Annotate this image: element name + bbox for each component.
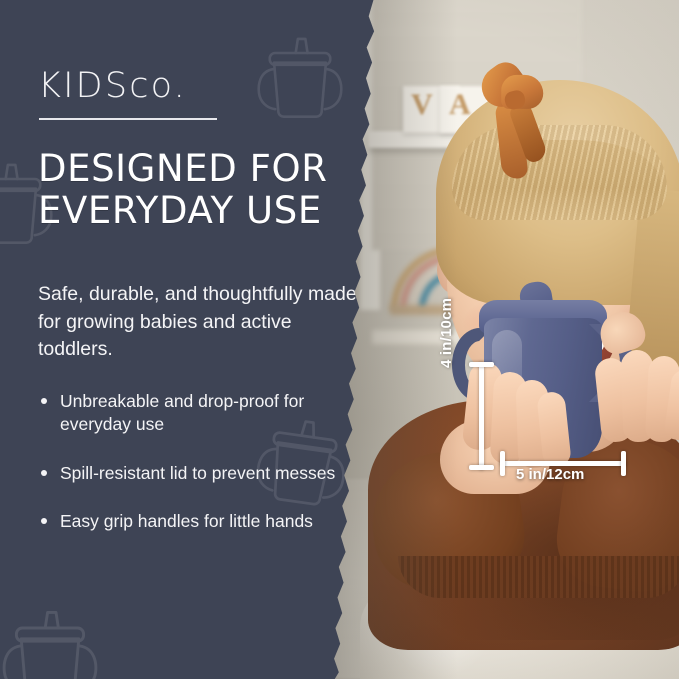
- feature-list: Unbreakable and drop-proof for everyday …: [38, 390, 368, 558]
- text-content: KIDSco. DESIGNED FOR EVERYDAY USE Safe, …: [0, 0, 400, 679]
- hand-right: [592, 336, 679, 466]
- brand-logo: KIDSco.: [38, 66, 187, 106]
- subheading-text: Safe, durable, and thoughtfully made for…: [38, 281, 368, 364]
- dimension-width-label: 5 in/12cm: [516, 466, 584, 483]
- list-item: Spill-resistant lid to prevent messes: [38, 462, 368, 485]
- list-item: Unbreakable and drop-proof for everyday …: [38, 390, 368, 437]
- brand-underline: [39, 118, 217, 120]
- list-item: Easy grip handles for little hands: [38, 510, 368, 533]
- page-title: DESIGNED FOR EVERYDAY USE: [38, 148, 378, 232]
- infographic-canvas: V A: [0, 0, 679, 679]
- dimension-height-label: 4 in/10cm: [438, 298, 455, 368]
